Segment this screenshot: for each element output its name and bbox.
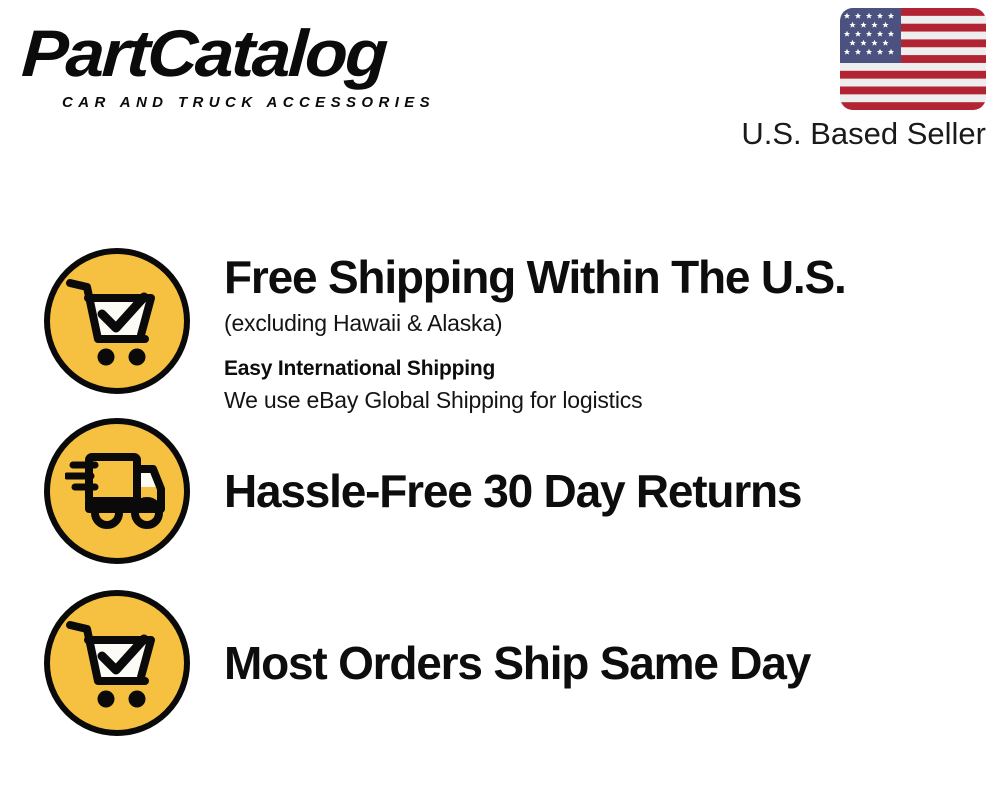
shopping-cart-check-icon	[44, 248, 190, 394]
feature-subtitle: (excluding Hawaii & Alaska)	[224, 308, 974, 338]
feature-title: Hassle-Free 30 Day Returns	[224, 464, 974, 518]
feature-title: Free Shipping Within The U.S.	[224, 250, 974, 304]
us-based-seller-label: U.S. Based Seller	[716, 116, 986, 152]
delivery-truck-icon	[44, 418, 190, 564]
us-flag-icon	[840, 8, 986, 110]
feature-text-block: Most Orders Ship Same Day	[190, 636, 974, 690]
feature-row: Most Orders Ship Same Day	[44, 590, 974, 736]
feature-text-block: Free Shipping Within The U.S. (excluding…	[190, 248, 974, 415]
us-based-seller-badge: U.S. Based Seller	[716, 8, 986, 152]
feature-title: Most Orders Ship Same Day	[224, 636, 974, 690]
promo-banner: PartCatalog CAR AND TRUCK ACCESSORIES	[0, 0, 1000, 800]
feature-subheading: Easy International Shipping	[224, 355, 974, 383]
shopping-cart-check-icon	[44, 590, 190, 736]
feature-text-block: Hassle-Free 30 Day Returns	[190, 464, 974, 518]
brand-tagline: CAR AND TRUCK ACCESSORIES	[62, 94, 435, 112]
feature-row: Free Shipping Within The U.S. (excluding…	[44, 248, 974, 415]
feature-row: Hassle-Free 30 Day Returns	[44, 418, 974, 564]
banner-header: PartCatalog CAR AND TRUCK ACCESSORIES	[0, 0, 1000, 170]
brand-wordmark: PartCatalog	[20, 18, 522, 88]
feature-subnote: We use eBay Global Shipping for logistic…	[224, 385, 974, 415]
partcatalog-logo: PartCatalog CAR AND TRUCK ACCESSORIES	[22, 18, 492, 113]
